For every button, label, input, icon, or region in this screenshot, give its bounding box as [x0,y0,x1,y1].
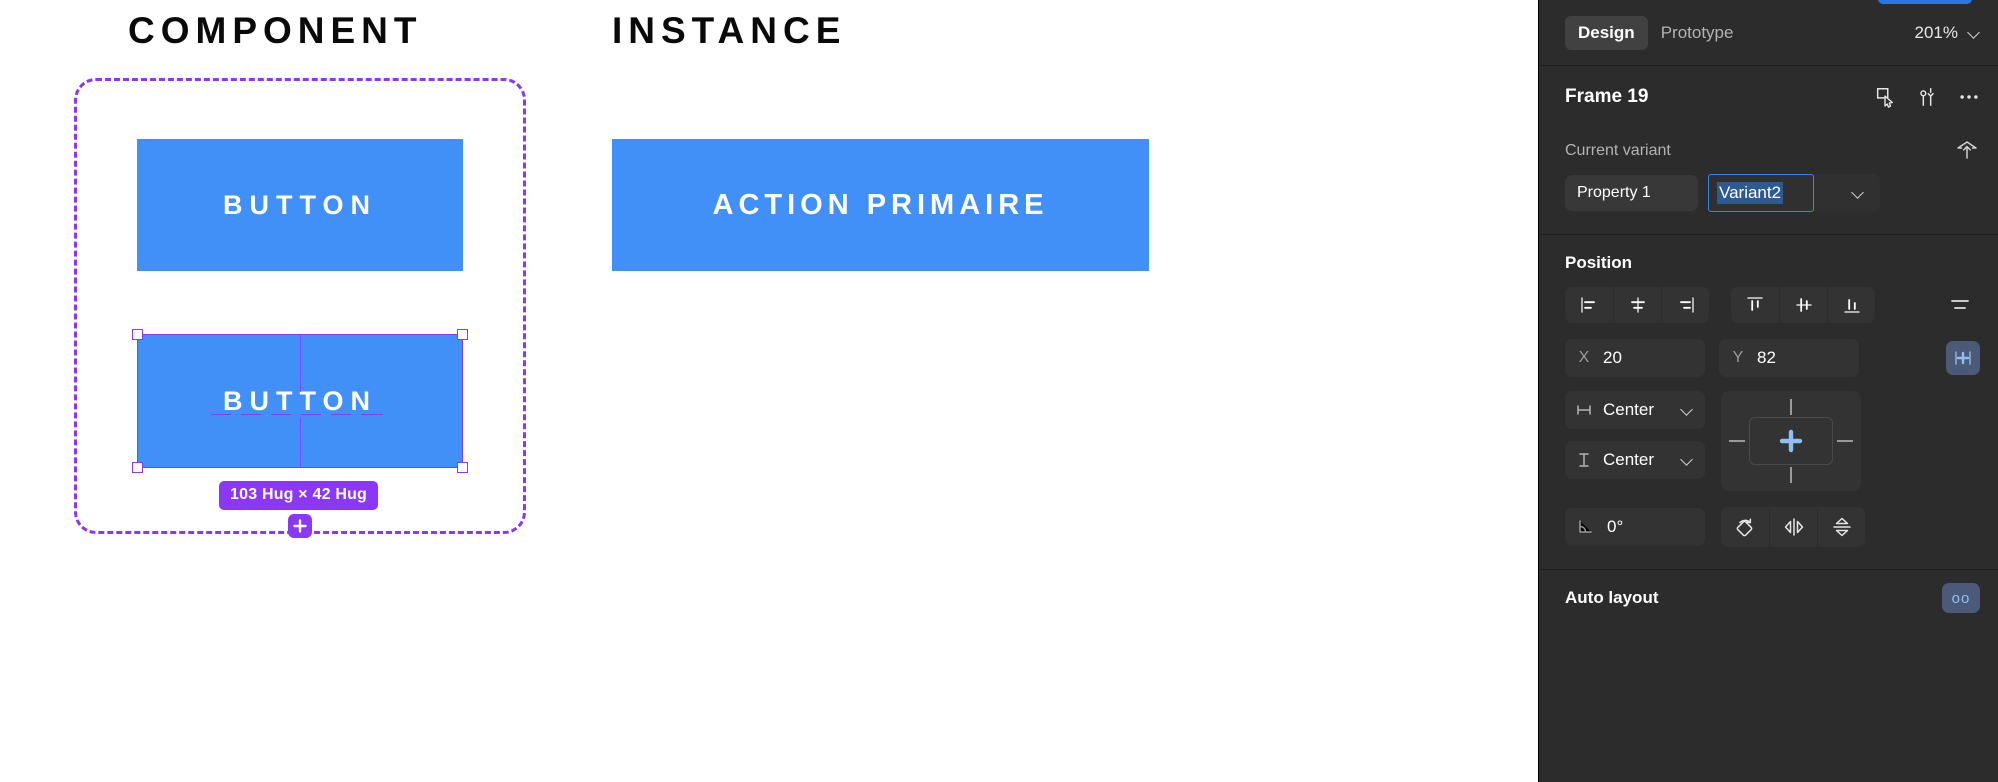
component-button-variant2-selected[interactable]: BUTTON [137,334,463,468]
xy-coordinates-row: X 20 Y 82 [1565,339,1980,391]
instance-button[interactable]: ACTION PRIMAIRE [612,139,1149,271]
share-button[interactable] [1878,0,1972,4]
flip-horizontal-button[interactable] [1769,507,1817,547]
chevron-down-icon [1968,27,1980,39]
position-heading: Position [1565,235,1980,287]
x-label: X [1577,349,1591,367]
distribute-spacing-button[interactable] [1940,287,1980,323]
x-value: 20 [1603,348,1622,368]
variant-property-name[interactable]: Property 1 [1565,175,1698,211]
rotate-icon [1734,516,1756,538]
button-label: ACTION PRIMAIRE [713,189,1049,222]
flip-vertical-icon [1831,516,1853,538]
constraint-center-button[interactable] [1749,417,1833,465]
rotation-field[interactable]: 0° [1565,508,1705,546]
selection-header: Frame 19 [1565,66,1980,128]
y-value: 82 [1757,348,1776,368]
zoom-control[interactable]: 201% [1915,23,1980,43]
x-position-field[interactable]: X 20 [1565,339,1705,377]
auto-layout-header: Auto layout oo [1565,570,1980,626]
chevron-down-icon[interactable] [1852,187,1864,199]
tune-sliders-icon[interactable] [1916,86,1938,108]
auto-layout-icon: oo [1952,590,1971,607]
component-button-variant1[interactable]: BUTTON [137,139,463,271]
current-variant-label: Current variant [1565,142,1671,160]
variant-property-row: Property 1 Variant2 [1565,174,1980,234]
canvas-label-instance: INSTANCE [612,10,846,52]
page-title: Frame 19 [1565,86,1648,108]
position-section: Position [1539,235,1998,570]
align-horizontal-group [1565,287,1709,323]
constraint-grid[interactable] [1721,391,1861,491]
align-horizontal-center-button[interactable] [1613,287,1661,323]
rotation-value: 0° [1607,517,1623,537]
variant-value-input[interactable]: Variant2 [1708,174,1814,212]
property-label: Property 1 [1577,184,1651,202]
distribute-spacing-icon [1949,295,1971,315]
align-bottom-button[interactable] [1827,287,1875,323]
tab-design[interactable]: Design [1565,16,1648,50]
select-instance-icon[interactable] [1874,86,1896,108]
vertical-constraint-value: Center [1603,450,1654,470]
flip-vertical-button[interactable] [1817,507,1865,547]
angle-icon [1577,518,1595,536]
constraint-center-icon [1778,428,1804,454]
add-auto-layout-button[interactable]: oo [1942,583,1980,613]
auto-layout-section: Auto layout oo [1539,570,1998,626]
plus-icon [293,519,307,533]
horizontal-constraint-value: Center [1603,400,1654,420]
alignment-toolbar [1565,287,1980,339]
add-constraint-button[interactable] [1946,341,1980,375]
vertical-constraint-select[interactable]: Center [1565,441,1705,479]
more-options-icon[interactable] [1958,86,1980,108]
align-vertical-center-button[interactable] [1779,287,1827,323]
transform-group [1721,507,1865,547]
swap-up-icon[interactable] [1954,139,1980,163]
y-label: Y [1731,349,1745,367]
design-canvas[interactable]: COMPONENT INSTANCE BUTTON BUTTON 103 Hug [0,0,1538,782]
selection-size-badge: 103 Hug × 42 Hug [219,481,378,510]
add-constraint-icon [1952,347,1974,369]
constraints-area: Center Center [1565,391,1980,507]
chevron-down-icon [1681,454,1693,466]
button-label: BUTTON [223,386,377,417]
canvas-label-component: COMPONENT [128,10,423,52]
flip-horizontal-icon [1783,516,1805,538]
align-horizontal-center-icon [1628,295,1648,315]
align-top-button[interactable] [1731,287,1779,323]
y-position-field[interactable]: Y 82 [1719,339,1859,377]
rotate-button[interactable] [1721,507,1769,547]
align-top-icon [1745,295,1765,315]
selection-section: Frame 19 [1539,66,1998,235]
horizontal-constraint-select[interactable]: Center [1565,391,1705,429]
zoom-value: 201% [1915,23,1958,43]
rotation-row: 0° [1565,507,1980,569]
auto-layout-label: Auto layout [1565,588,1659,608]
chevron-down-icon [1681,404,1693,416]
panel-tabbar: Design Prototype 201% [1539,0,1998,66]
align-bottom-icon [1842,295,1862,315]
right-properties-panel: Design Prototype 201% Frame 19 [1538,0,1998,782]
vertical-resize-icon [1575,451,1593,469]
align-left-button[interactable] [1565,287,1613,323]
variant-value-dropdown[interactable]: Variant2 [1708,174,1880,212]
align-right-icon [1676,295,1696,315]
tab-prototype[interactable]: Prototype [1648,16,1747,50]
figma-window: COMPONENT INSTANCE BUTTON BUTTON 103 Hug [0,0,1998,782]
align-right-button[interactable] [1661,287,1709,323]
variant-value-text: Variant2 [1717,182,1783,204]
add-variant-button[interactable] [288,514,312,538]
current-variant-header: Current variant [1565,128,1980,174]
button-label: BUTTON [223,190,377,221]
align-vertical-center-icon [1794,295,1814,315]
align-vertical-group [1731,287,1875,323]
horizontal-resize-icon [1575,401,1593,419]
align-left-icon [1579,295,1599,315]
